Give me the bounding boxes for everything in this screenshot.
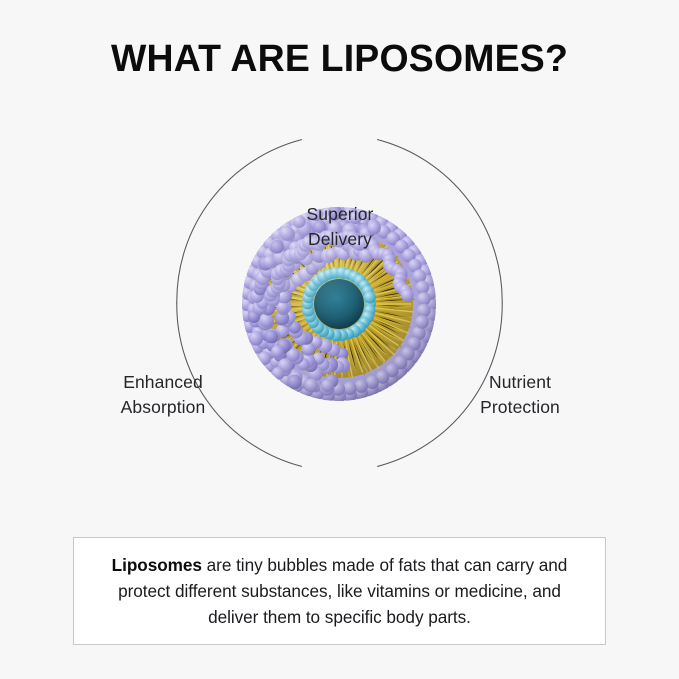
pillar-label-enhanced-absorption: Enhanced Absorption: [78, 370, 248, 420]
pillar-label-nutrient-protection: Nutrient Protection: [435, 370, 605, 420]
pillar-label-superior-delivery: Superior Delivery: [240, 202, 440, 252]
description-text: Liposomes are tiny bubbles made of fats …: [74, 552, 605, 630]
page-title: WHAT ARE LIPOSOMES?: [5, 36, 674, 82]
description-bold-lead: Liposomes: [112, 555, 202, 575]
radial-diagram: Superior Delivery Nutrient Protection Ea…: [0, 92, 679, 524]
infographic-root: WHAT ARE LIPOSOMES?: [0, 0, 679, 679]
description-box: Liposomes are tiny bubbles made of fats …: [73, 537, 606, 645]
